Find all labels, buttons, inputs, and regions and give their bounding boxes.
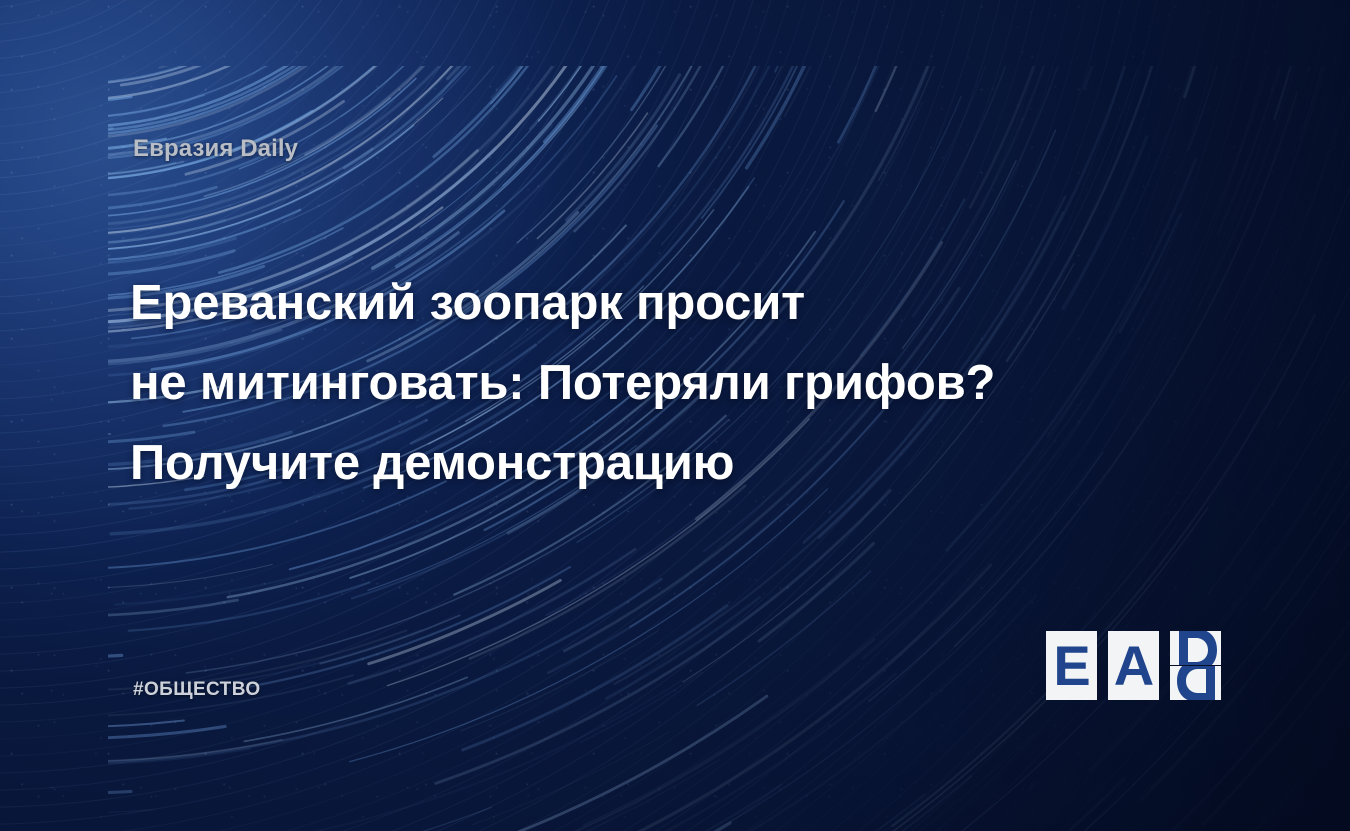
logo-d-glyph-lower (1175, 666, 1219, 700)
logo-tile-a: A (1108, 631, 1159, 700)
rubric-tag[interactable]: #ОБЩЕСТВО (133, 679, 261, 701)
logo-d-glyph-upper (1175, 631, 1219, 665)
logo-mark-half-bottom (1170, 666, 1221, 700)
headline-line-1: Ереванский зоопарк просит (130, 263, 1130, 343)
ead-logo[interactable]: E A (1046, 631, 1221, 700)
logo-tile-d-mark (1170, 631, 1221, 700)
headline-line-2: не митинговать: Потеряли грифов? (130, 343, 1130, 423)
headline: Ереванский зоопарк просит не митинговать… (130, 263, 1130, 503)
logo-letter-a: A (1114, 638, 1153, 694)
news-share-card: Евразия Daily Ереванский зоопарк просит … (0, 0, 1350, 831)
logo-letter-e: E (1053, 638, 1089, 694)
brand-wordmark: Евразия Daily (133, 135, 298, 163)
headline-line-3: Получите демонстрацию (130, 423, 1130, 503)
card-content: Евразия Daily Ереванский зоопарк просит … (0, 0, 1350, 831)
logo-mark-half-top (1170, 631, 1221, 665)
logo-tile-e: E (1046, 631, 1097, 700)
